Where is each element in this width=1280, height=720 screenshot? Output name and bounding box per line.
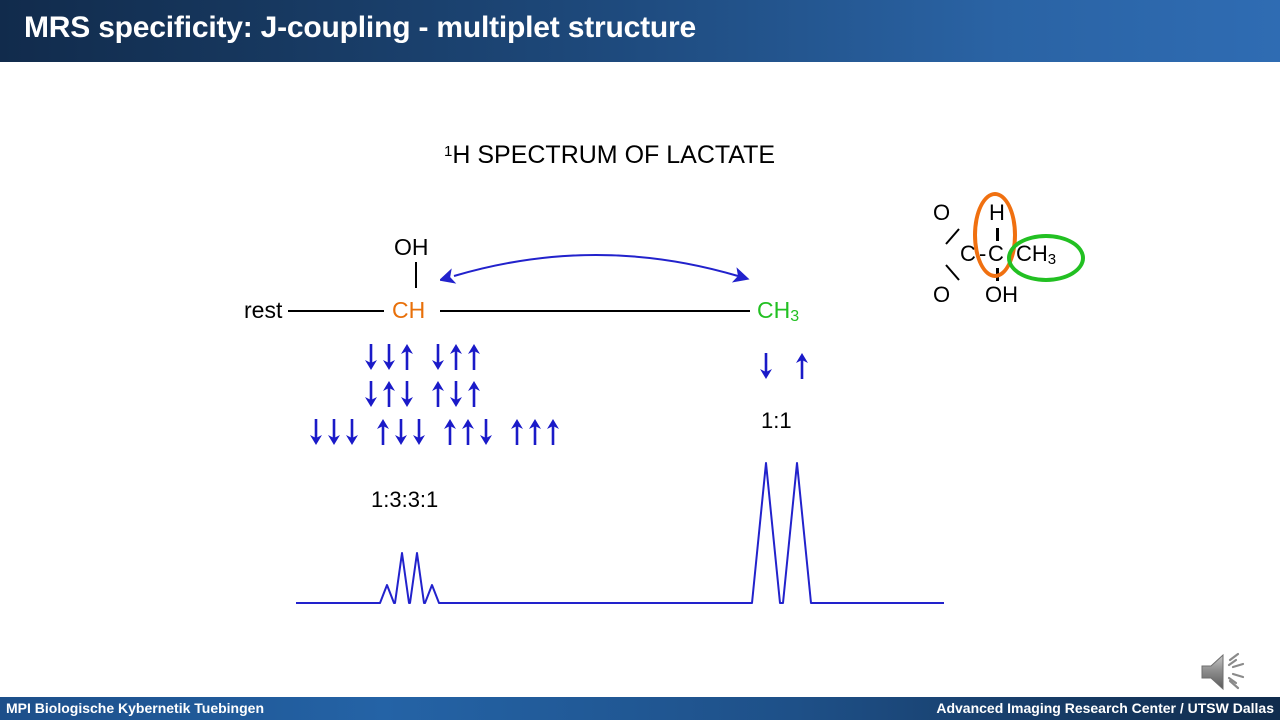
spin-down-arrow-icon xyxy=(477,418,495,446)
spin-up-arrow-icon xyxy=(447,343,465,371)
spin-up-arrow-icon xyxy=(793,352,811,380)
title-bar: MRS specificity: J-coupling - multiplet … xyxy=(0,0,1280,62)
spin-up-arrow-icon xyxy=(429,380,447,408)
spin-group xyxy=(307,418,361,446)
bond-o-top-slash xyxy=(943,227,963,247)
spin-up-arrow-icon xyxy=(459,418,477,446)
ch3-spin-row xyxy=(757,352,811,380)
spin-group xyxy=(362,343,416,371)
spin-down-arrow-icon xyxy=(343,418,361,446)
spectrum-trace xyxy=(290,450,950,615)
spin-group xyxy=(508,418,562,446)
spin-down-arrow-icon xyxy=(380,343,398,371)
spin-down-arrow-icon xyxy=(325,418,343,446)
bond-o-bottom-slash xyxy=(943,262,963,282)
schematic-ch3-text: CH xyxy=(757,297,790,323)
schematic-ch3-subscript: 3 xyxy=(790,308,799,325)
spin-down-arrow-icon xyxy=(362,343,380,371)
spin-up-arrow-icon xyxy=(544,418,562,446)
schematic-rest-label: rest xyxy=(244,297,282,324)
spin-group xyxy=(429,343,483,371)
atom-oxygen-bottom: O xyxy=(933,282,950,308)
bond-oh-to-ch xyxy=(415,262,417,288)
spin-down-arrow-icon xyxy=(429,343,447,371)
spin-up-arrow-icon xyxy=(526,418,544,446)
spectrum-heading: 1H SPECTRUM OF LACTATE xyxy=(444,141,775,170)
speaker-icon[interactable] xyxy=(1196,648,1258,696)
spin-down-arrow-icon xyxy=(392,418,410,446)
bond-ch-to-ch3 xyxy=(440,310,750,312)
footer-right-text: Advanced Imaging Research Center / UTSW … xyxy=(936,700,1274,716)
lactate-structure-diagram: O O C - C - H OH CH3 xyxy=(915,190,1090,320)
ch-spin-row-1 xyxy=(362,343,483,371)
page-title: MRS specificity: J-coupling - multiplet … xyxy=(24,11,696,45)
schematic-ch3-label: CH3 xyxy=(757,297,799,326)
spin-group xyxy=(757,352,775,380)
spin-up-arrow-icon xyxy=(398,343,416,371)
spin-up-arrow-icon xyxy=(508,418,526,446)
spin-group xyxy=(793,352,811,380)
bond-rest-to-ch xyxy=(288,310,384,312)
ch-spin-row-2 xyxy=(362,380,483,408)
footer-bar: MPI Biologische Kybernetik Tuebingen Adv… xyxy=(0,697,1280,720)
highlight-ellipse-methyl xyxy=(1007,234,1085,282)
heading-main-text: H SPECTRUM OF LACTATE xyxy=(452,141,775,169)
spin-group xyxy=(374,418,428,446)
spin-up-arrow-icon xyxy=(380,380,398,408)
spin-down-arrow-icon xyxy=(362,380,380,408)
spin-down-arrow-icon xyxy=(410,418,428,446)
footer-left-text: MPI Biologische Kybernetik Tuebingen xyxy=(6,700,264,716)
schematic-ch-label: CH xyxy=(392,297,425,324)
spin-down-arrow-icon xyxy=(307,418,325,446)
spin-down-arrow-icon xyxy=(447,380,465,408)
spin-group xyxy=(441,418,495,446)
atom-oxygen-top: O xyxy=(933,200,950,226)
ch-spin-row-3 xyxy=(307,418,562,446)
spin-down-arrow-icon xyxy=(398,380,416,408)
spin-group xyxy=(429,380,483,408)
spin-down-arrow-icon xyxy=(757,352,775,380)
spin-up-arrow-icon xyxy=(465,343,483,371)
spin-group xyxy=(362,380,416,408)
spectrum-line xyxy=(296,463,944,603)
doublet-ratio-label: 1:1 xyxy=(761,408,792,434)
spin-up-arrow-icon xyxy=(465,380,483,408)
j-coupling-arc-icon xyxy=(440,232,752,292)
atom-hydroxyl-bottom: OH xyxy=(985,282,1018,308)
spin-up-arrow-icon xyxy=(374,418,392,446)
spin-up-arrow-icon xyxy=(441,418,459,446)
schematic-oh-label: OH xyxy=(394,234,429,261)
